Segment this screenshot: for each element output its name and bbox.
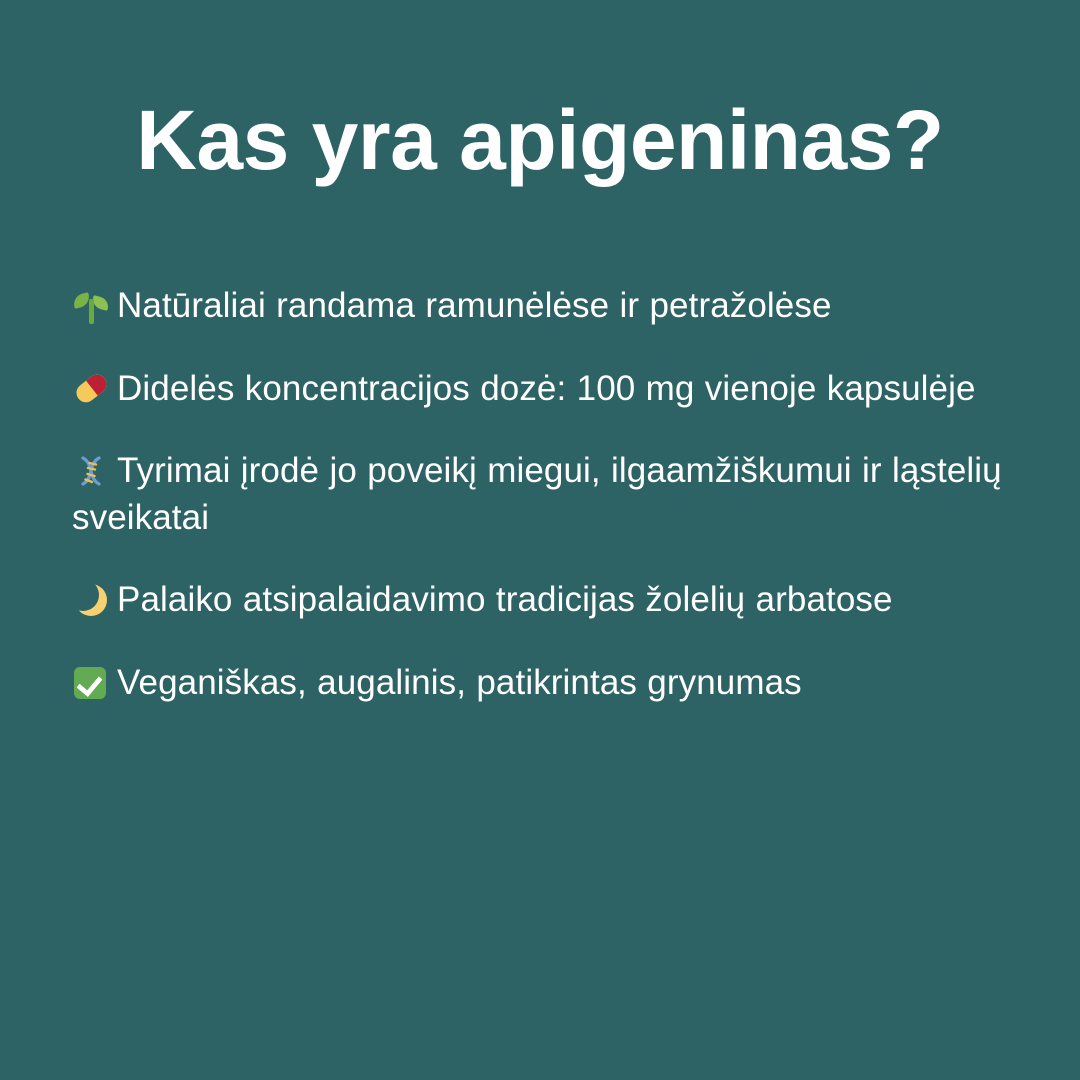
dna-icon — [72, 452, 110, 490]
list-item-label: Tyrimai įrodė jo poveikį miegui, ilgaamž… — [72, 451, 1002, 537]
list-item-label: Veganiškas, augalinis, patikrintas grynu… — [117, 663, 802, 702]
list-item-label: Natūraliai randama ramunėlėse ir petražo… — [117, 286, 832, 325]
list-item: Tyrimai įrodė jo poveikį miegui, ilgaamž… — [72, 448, 1012, 541]
benefits-list: Natūraliai randama ramunėlėse ir petražo… — [72, 283, 1012, 706]
list-item: Palaiko atsipalaidavimo tradicijas žolel… — [72, 577, 1012, 624]
crescent-moon-icon — [72, 581, 110, 619]
page-title: Kas yra apigeninas? — [60, 96, 1020, 185]
check-mark-button-icon — [72, 664, 110, 702]
slide-canvas: Kas yra apigeninas? Natūraliai randama r… — [0, 0, 1080, 1080]
page-title-container: Kas yra apigeninas? — [0, 96, 1080, 185]
list-item-label: Didelės koncentracijos dozė: 100 mg vien… — [117, 369, 976, 408]
list-item: Didelės koncentracijos dozė: 100 mg vien… — [72, 366, 1012, 413]
list-item-label: Palaiko atsipalaidavimo tradicijas žolel… — [117, 580, 893, 619]
list-item: Veganiškas, augalinis, patikrintas grynu… — [72, 660, 1012, 707]
seedling-icon — [72, 287, 110, 325]
list-item: Natūraliai randama ramunėlėse ir petražo… — [72, 283, 1012, 330]
pill-icon — [72, 370, 110, 408]
